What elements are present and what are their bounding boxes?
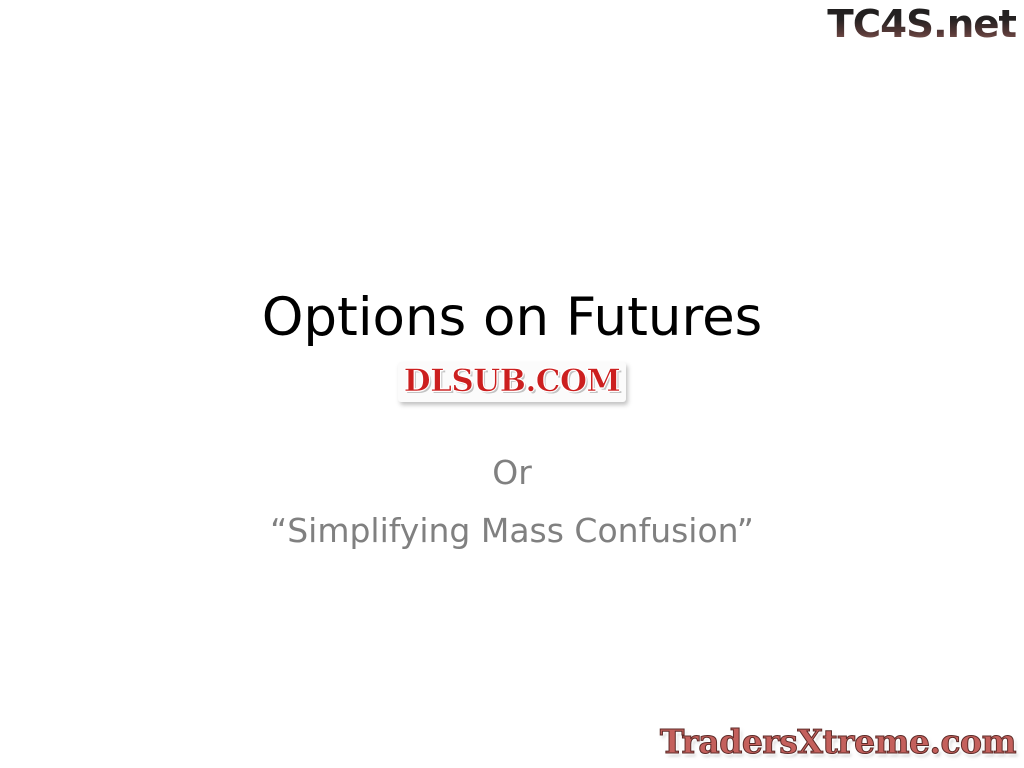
subtitle-block: Or “Simplifying Mass Confusion” (0, 444, 1024, 560)
page-title: Options on Futures (0, 288, 1024, 348)
subtitle-line-or: Or (0, 444, 1024, 502)
title-block: Options on Futures (0, 288, 1024, 348)
tc4s-watermark: TC4S.net (827, 2, 1016, 46)
presentation-slide: TC4S.net Options on Futures DLSUB.COM Or… (0, 0, 1024, 768)
tradersxtreme-watermark: TradersXtreme.com (660, 722, 1016, 762)
subtitle-line-quote: “Simplifying Mass Confusion” (0, 502, 1024, 560)
dlsub-watermark-label: DLSUB.COM (404, 363, 621, 399)
dlsub-watermark-plate: DLSUB.COM (398, 362, 627, 402)
dlsub-watermark: DLSUB.COM (0, 362, 1024, 402)
